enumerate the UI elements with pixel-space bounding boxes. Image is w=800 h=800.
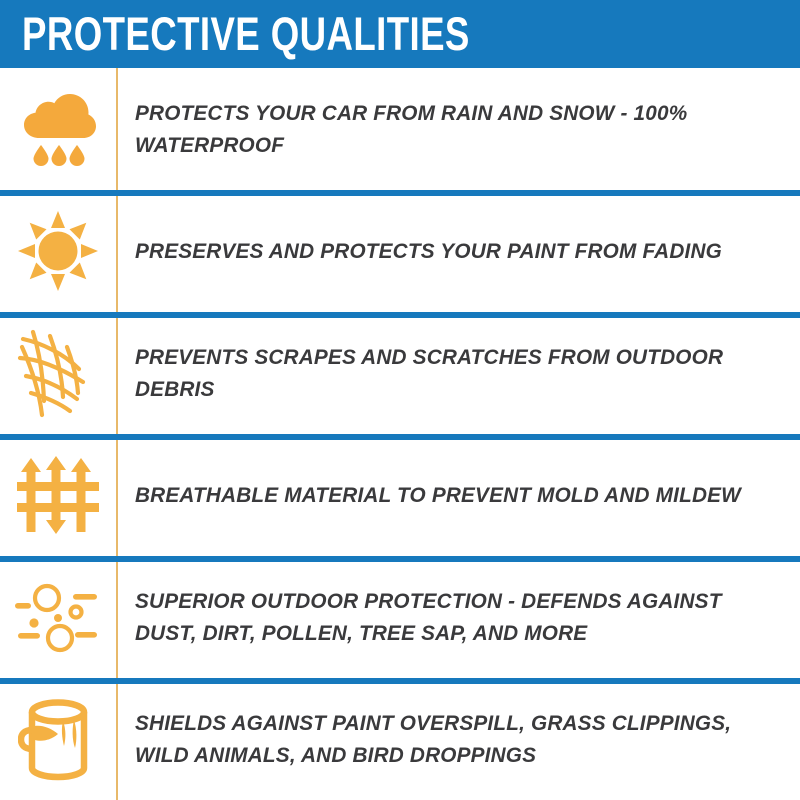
icon-cell [0,312,116,434]
icon-cell [0,68,116,190]
text-cell: SHIELDS AGAINST PAINT OVERSPILL, GRASS C… [116,707,800,771]
text-cell: PREVENTS SCRAPES AND SCRATCHES FROM OUTD… [116,341,800,405]
breathable-airflow-icon [17,454,99,536]
text-cell: SUPERIOR OUTDOOR PROTECTION - DEFENDS AG… [116,585,800,649]
dust-particles-icon [15,581,101,653]
sun-icon [16,209,100,293]
feature-list: PROTECTS YOUR CAR FROM RAIN AND SNOW - 1… [0,68,800,800]
text-cell: BREATHABLE MATERIAL TO PREVENT MOLD AND … [116,479,800,511]
icon-cell [0,556,116,678]
paint-can-icon [18,696,98,782]
text-cell: PRESERVES AND PROTECTS YOUR PAINT FROM F… [116,235,800,267]
scratches-icon [17,327,99,419]
feature-text: PROTECTS YOUR CAR FROM RAIN AND SNOW - 1… [135,97,759,161]
feature-row: SHIELDS AGAINST PAINT OVERSPILL, GRASS C… [0,678,800,800]
feature-row: SUPERIOR OUTDOOR PROTECTION - DEFENDS AG… [0,556,800,678]
feature-text: SHIELDS AGAINST PAINT OVERSPILL, GRASS C… [135,707,759,771]
cloud-rain-icon [19,90,97,168]
icon-cell [0,434,116,556]
feature-row: BREATHABLE MATERIAL TO PREVENT MOLD AND … [0,434,800,556]
feature-row: PREVENTS SCRAPES AND SCRATCHES FROM OUTD… [0,312,800,434]
feature-text: PRESERVES AND PROTECTS YOUR PAINT FROM F… [135,235,759,267]
icon-cell [0,190,116,312]
feature-text: BREATHABLE MATERIAL TO PREVENT MOLD AND … [135,479,759,511]
text-cell: PROTECTS YOUR CAR FROM RAIN AND SNOW - 1… [116,97,800,161]
feature-text: SUPERIOR OUTDOOR PROTECTION - DEFENDS AG… [135,585,759,649]
page-title: PROTECTIVE QUALITIES [22,6,470,62]
feature-row: PROTECTS YOUR CAR FROM RAIN AND SNOW - 1… [0,68,800,190]
infographic-page: PROTECTIVE QUALITIES [0,0,800,800]
feature-row: PRESERVES AND PROTECTS YOUR PAINT FROM F… [0,190,800,312]
header-banner: PROTECTIVE QUALITIES [0,0,800,68]
icon-cell [0,678,116,800]
feature-text: PREVENTS SCRAPES AND SCRATCHES FROM OUTD… [135,341,759,405]
